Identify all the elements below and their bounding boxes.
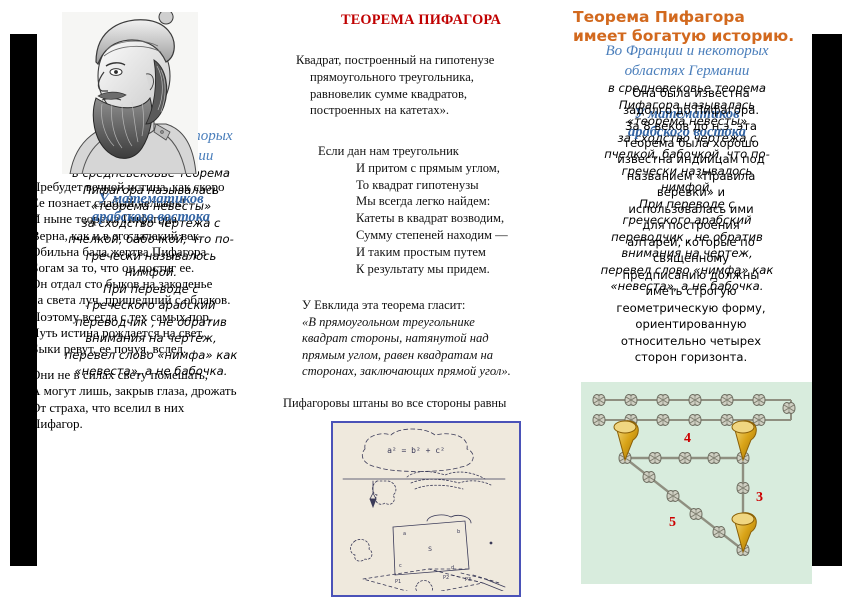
statement-line: построенных на катетах». <box>296 102 554 119</box>
statement-line: прямоугольного треугольника, <box>296 69 554 86</box>
svg-text:d: d <box>451 565 454 571</box>
left-overlay-blue-bold: У математиков арабского востока <box>22 190 280 226</box>
overlay-line: При переводе с <box>22 281 280 298</box>
svg-text:P3: P3 <box>465 577 471 583</box>
verse-line: Если дан нам треугольник <box>318 143 558 160</box>
history-line: использовалась ими <box>572 201 810 218</box>
svg-text:b: b <box>457 529 460 535</box>
history-line: священному <box>572 250 810 267</box>
verse-line: Мы всегда легко найдем: <box>318 193 558 210</box>
verse-line: Катеты в квадрат возводим, <box>318 210 558 227</box>
euclid-quote-line: прямым углом, равен квадратам на <box>302 347 560 364</box>
verse-line: То квадрат гипотенузы <box>318 177 558 194</box>
theorem-verse: Если дан нам треугольник И притом с прям… <box>318 143 558 277</box>
verse-line: И притом с прямым углом, <box>318 160 558 177</box>
svg-text:P1: P1 <box>395 579 401 585</box>
history-line: геометрическую форму, <box>572 300 810 317</box>
orange-title-line: Теорема Пифагора <box>573 8 821 27</box>
overlay-line: гречески называлось <box>22 248 280 265</box>
overlay-line: нимфой. <box>22 264 280 281</box>
overlay-line: «невеста», а не бабочка. <box>22 363 280 380</box>
poem-line: А могут лишь, закрыв глаза, дрожать <box>31 383 281 399</box>
svg-text:P2: P2 <box>443 575 449 581</box>
slide-canvas: Пребудет вечной истина, как скоро Ее поз… <box>0 0 842 595</box>
right-overlay-blue-title: Во Франции и некоторых областях Германии <box>558 42 816 81</box>
svg-text:a: a <box>403 531 406 537</box>
euclid-quote-line: квадрат стороны, натянутой над <box>302 330 560 347</box>
right-orange-title: Теорема Пифагора имеет богатую историю. <box>573 8 821 46</box>
euclid-intro: У Евклида эта теорема гласит: <box>302 297 560 314</box>
theorem-statement: Квадрат, построенный на гипотенузе прямо… <box>296 52 554 119</box>
statement-line: равновелик сумме квадратов, <box>296 86 554 103</box>
blue-title-line: Во Франции и некоторых <box>558 42 816 62</box>
history-line: сторон горизонта. <box>572 349 810 366</box>
svg-text:a² = b² + c²: a² = b² + c² <box>387 446 445 455</box>
pythagoras-portrait-image <box>62 12 198 174</box>
overlay-line: греческого арабский <box>22 297 280 314</box>
rope-label-side-right: 3 <box>756 490 763 506</box>
overlay-line: переводчик , не обратив <box>22 314 280 331</box>
euclid-quote-line: сторонах, заключающих прямой угол». <box>302 363 560 380</box>
overlay-line: перевел слово «нимфа» как <box>22 347 280 364</box>
history-line: веревки» и <box>572 184 810 201</box>
blue-title-line: областях Германии <box>558 62 816 82</box>
verse-line: К результату мы придем. <box>318 261 558 278</box>
rope-label-hypotenuse: 5 <box>669 515 676 531</box>
right-history-text: Она была известна задолго до Пифагора. З… <box>572 85 810 366</box>
history-line: задолго до Пифагора. <box>572 102 810 119</box>
svg-text:c: c <box>399 563 402 569</box>
history-line: для построения <box>572 217 810 234</box>
history-line: ориентированную <box>572 316 810 333</box>
history-line: известна индийцам под <box>572 151 810 168</box>
history-line: теорема была хорошо <box>572 135 810 152</box>
rope-label-side-top: 4 <box>684 431 691 447</box>
history-line: иметь строгую <box>572 283 810 300</box>
history-line: предписанию должны <box>572 267 810 284</box>
poem-line: Пифагор. <box>31 416 281 432</box>
right-black-bar <box>812 34 842 566</box>
history-line: За 8 веков до н.э. эта <box>572 118 810 135</box>
middle-title: ТЕОРЕМА ПИФАГОРА <box>282 12 560 29</box>
pythagorean-pants-line: Пифагоровы штаны во все стороны равны <box>283 396 563 411</box>
euclid-quote-line: «В прямоугольном треугольнике <box>302 314 560 331</box>
verse-line: Сумму степеней находим — <box>318 227 558 244</box>
statement-line: Квадрат, построенный на гипотенузе <box>296 52 554 69</box>
overlay-line: пчелкой, бабочкой, что по- <box>22 231 280 248</box>
old-theorem-sketch-image: a² = b² + c² S a b c d <box>331 421 521 597</box>
euclid-block: У Евклида эта теорема гласит: «В прямоуг… <box>302 297 560 380</box>
history-line: названием «Правила <box>572 168 810 185</box>
history-line: Она была известна <box>572 85 810 102</box>
svg-text:S: S <box>428 546 432 553</box>
history-line: алтарей, которые по <box>572 234 810 251</box>
rope-triangle-image: 4 3 5 <box>581 382 812 584</box>
blue-bold-line: арабского востока <box>22 208 280 226</box>
history-line: относительно четырех <box>572 333 810 350</box>
verse-line: И таким простым путем <box>318 244 558 261</box>
poem-line: От страха, что вселил в них <box>31 400 281 416</box>
overlay-line: внимания на чертеж, <box>22 330 280 347</box>
blue-bold-line: У математиков <box>22 190 280 208</box>
